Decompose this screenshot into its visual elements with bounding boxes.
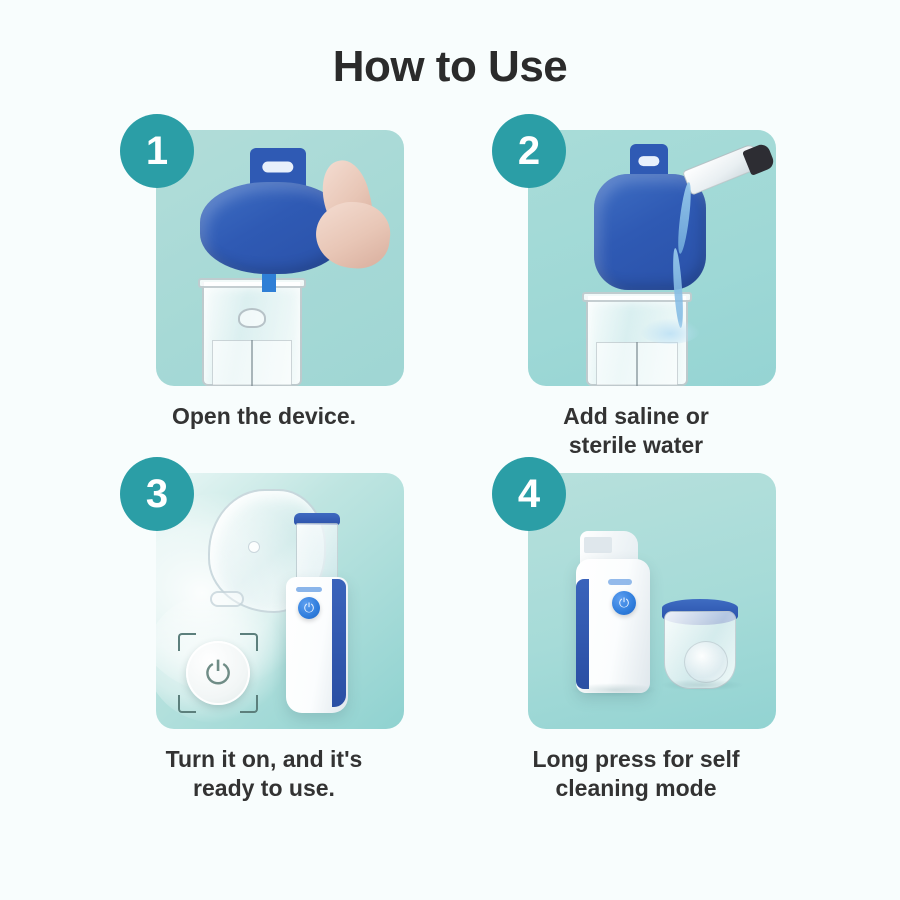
power-button-callout[interactable]: ⏻: [178, 633, 258, 713]
step-item-4: 4 Long press for self cleaning mode: [492, 473, 780, 804]
step-caption-2: Add saline or sterile water: [492, 402, 780, 461]
step-1-illustration-card: [156, 130, 404, 386]
power-button-circle[interactable]: ⏻: [186, 641, 250, 705]
open-the-device-illustration: [156, 130, 404, 386]
indicator-lights-icon: [608, 579, 632, 585]
step-4-illustration-card: [528, 473, 776, 729]
step-number-badge-4: 4: [492, 457, 566, 531]
step-3-illustration-card: ⏻: [156, 473, 404, 729]
nebulizer-side-stripe: [332, 579, 346, 707]
step-item-3: ⏻ 3 Turn it on, and it's ready to use.: [120, 473, 408, 804]
indicator-lights-icon: [296, 587, 322, 592]
power-button-icon[interactable]: [612, 591, 636, 615]
step-number-badge-2: 2: [492, 114, 566, 188]
how-to-use-page: How to Use: [0, 0, 900, 900]
medication-chamber: [296, 523, 338, 579]
focus-bracket-icon: [178, 695, 196, 713]
steps-grid: 1 Open the device.: [120, 130, 780, 804]
step-2-illustration-card: [528, 130, 776, 386]
mask-vent-icon: [248, 541, 260, 553]
turn-it-on-illustration: ⏻: [156, 473, 404, 729]
nebulizer-side-stripe: [576, 579, 589, 689]
mask-strap-icon: [210, 591, 244, 607]
tank-rim: [198, 278, 306, 288]
unit-shadow: [570, 683, 658, 697]
self-cleaning-illustration: [528, 473, 776, 729]
step-caption-3: Turn it on, and it's ready to use.: [120, 745, 408, 804]
cup-shadow: [660, 679, 744, 691]
step-number-badge-1: 1: [120, 114, 194, 188]
step-item-1: 1 Open the device.: [120, 130, 408, 461]
page-title: How to Use: [333, 42, 568, 92]
focus-bracket-icon: [240, 695, 258, 713]
step-item-2: 2 Add saline or sterile water: [492, 130, 780, 461]
mesh-holder-icon: [238, 308, 266, 328]
cup-mesh-icon: [684, 641, 728, 683]
tank-divider: [251, 340, 253, 386]
splash-icon: [640, 318, 700, 344]
power-button-icon[interactable]: [298, 597, 320, 619]
step-caption-1: Open the device.: [120, 402, 408, 431]
step-caption-4: Long press for self cleaning mode: [492, 745, 780, 804]
add-saline-illustration: [528, 130, 776, 386]
focus-bracket-icon: [240, 633, 258, 651]
step-number-badge-3: 3: [120, 457, 194, 531]
tank-divider: [636, 342, 638, 386]
power-icon: ⏻: [205, 657, 230, 689]
focus-bracket-icon: [178, 633, 196, 651]
nebulizer-label-icon: [584, 537, 612, 553]
